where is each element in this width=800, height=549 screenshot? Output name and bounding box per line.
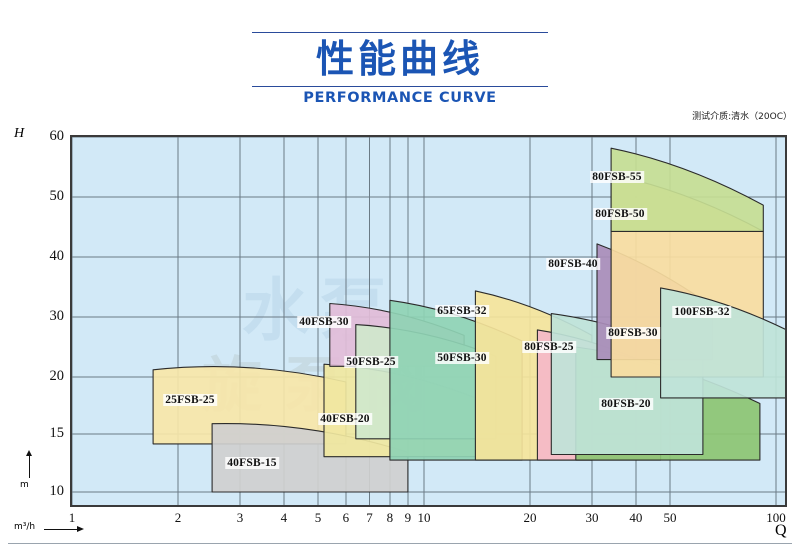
region-label-80fsb-20: 80FSB-20 — [599, 398, 653, 410]
title-rule-bottom — [252, 86, 548, 87]
y-axis-tick-labels: 60504030201510 — [14, 118, 64, 518]
region-label-80fsb-55: 80FSB-55 — [590, 171, 644, 183]
x-tick-1: 1 — [69, 510, 76, 526]
x-tick-20: 20 — [523, 510, 536, 526]
region-label-80fsb-40: 80FSB-40 — [546, 258, 600, 270]
plot-area: 水泵 旋泵阀 25FSB-2540FSB-1540FSB-2040FSB-305… — [70, 135, 787, 507]
y-tick-10: 10 — [28, 483, 64, 500]
x-tick-3: 3 — [237, 510, 244, 526]
curve-regions — [72, 137, 785, 505]
x-tick-2: 2 — [175, 510, 182, 526]
x-tick-4: 4 — [281, 510, 288, 526]
x-tick-100: 100 — [766, 510, 786, 526]
region-label-80fsb-50: 80FSB-50 — [593, 208, 647, 220]
page-subtitle: PERFORMANCE CURVE — [0, 90, 800, 106]
region-label-80fsb-25: 80FSB-25 — [522, 341, 576, 353]
title-rule-top — [252, 32, 548, 33]
x-tick-5: 5 — [315, 510, 322, 526]
x-axis-arrow-icon — [44, 529, 80, 530]
x-tick-10: 10 — [418, 510, 431, 526]
x-tick-9: 9 — [405, 510, 412, 526]
region-label-40fsb-15: 40FSB-15 — [225, 457, 279, 469]
page-header: 性能曲线 PERFORMANCE CURVE 测试介质:清水（20OC） — [0, 0, 800, 118]
region-label-100fsb-32: 100FSB-32 — [672, 306, 731, 318]
region-label-80fsb-30: 80FSB-30 — [606, 327, 660, 339]
x-tick-50: 50 — [664, 510, 677, 526]
y-tick-15: 15 — [28, 425, 64, 442]
x-tick-7: 7 — [366, 510, 373, 526]
y-tick-40: 40 — [28, 248, 64, 265]
page-title: 性能曲线 — [0, 36, 800, 82]
x-tick-40: 40 — [629, 510, 642, 526]
x-axis-unit: m³/h — [14, 522, 35, 532]
region-label-65fsb-32: 65FSB-32 — [435, 305, 489, 317]
performance-curve-chart: H m m³/h Q 60504030201510 水泵 旋泵阀 25FSB-2… — [0, 118, 800, 549]
x-tick-6: 6 — [343, 510, 350, 526]
region-label-40fsb-30: 40FSB-30 — [297, 316, 351, 328]
region-label-50fsb-30: 50FSB-30 — [435, 352, 489, 364]
footer-rule — [8, 543, 792, 544]
y-tick-50: 50 — [28, 188, 64, 205]
x-tick-30: 30 — [585, 510, 598, 526]
x-tick-8: 8 — [387, 510, 394, 526]
region-label-50fsb-25: 50FSB-25 — [344, 356, 398, 368]
y-tick-60: 60 — [28, 128, 64, 145]
region-label-40fsb-20: 40FSB-20 — [318, 413, 372, 425]
y-tick-20: 20 — [28, 368, 64, 385]
region-label-25fsb-25: 25FSB-25 — [163, 394, 217, 406]
y-tick-30: 30 — [28, 308, 64, 325]
